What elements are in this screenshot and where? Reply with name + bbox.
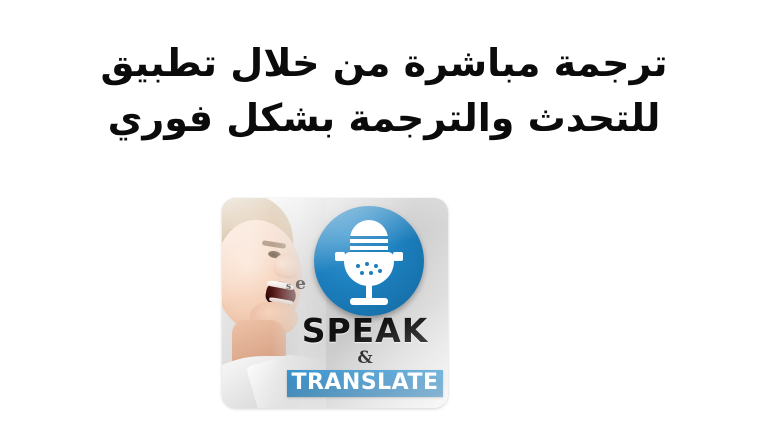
microphone-arm-right <box>393 252 403 261</box>
app-wordmark: SPEAK & TRANSLATE <box>282 314 448 397</box>
wordmark-translate: TRANSLATE <box>287 370 442 397</box>
headline-line-2: للتحدث والترجمة بشكل فوري <box>0 91 768 146</box>
microphone-dots <box>352 262 386 280</box>
app-icon-tile: se <box>222 198 448 408</box>
wordmark-speak: SPEAK <box>282 314 448 347</box>
speech-letters: se <box>286 274 306 294</box>
app-icon[interactable]: se <box>222 198 448 408</box>
speech-letter-e: e <box>295 274 306 294</box>
microphone-icon <box>314 206 424 316</box>
page-title: ترجمة مباشرة من خلال تطبيق للتحدث والترج… <box>0 36 768 145</box>
speech-letter-s: s <box>286 282 291 292</box>
headline-line-1: ترجمة مباشرة من خلال تطبيق <box>0 36 768 91</box>
microphone-base <box>350 298 388 305</box>
speech-bubble <box>314 206 424 316</box>
wordmark-ampersand: & <box>282 350 448 367</box>
microphone-grille <box>350 234 388 254</box>
